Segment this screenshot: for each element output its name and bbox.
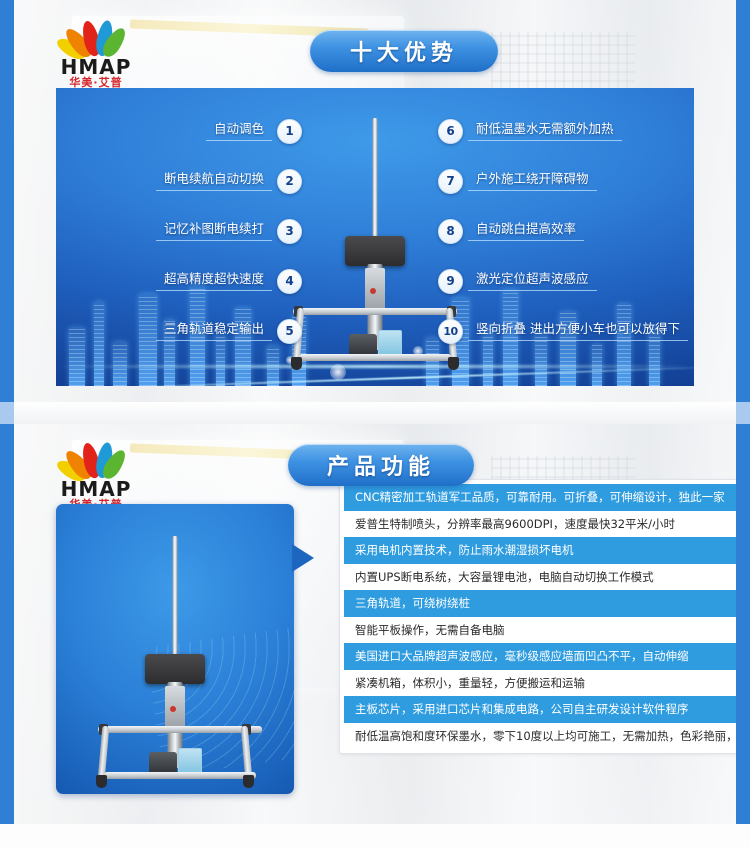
section2-title-text: 产品功能 <box>327 449 435 481</box>
advantage-label: 记忆补图断电续打 <box>156 221 272 241</box>
right-edge-strip-gap <box>736 402 750 424</box>
advantage-item[interactable]: 超高精度超快速度 4 <box>64 256 302 306</box>
logo-wordmark: HMAP <box>48 57 144 77</box>
machine-mast <box>373 118 378 242</box>
product-brochure-page: HMAP 华美·艾普 十大优势 <box>0 0 750 847</box>
product-machine-photo <box>90 536 260 780</box>
machine-carriage <box>165 686 185 728</box>
advantage-number-badge: 2 <box>277 169 302 194</box>
feature-row[interactable]: CNC精密加工轨道军工品质，可靠耐用。可折叠，可伸缩设计，独此一家 <box>344 484 736 511</box>
advantage-number-badge: 3 <box>277 219 302 244</box>
advantage-number-badge: 9 <box>438 269 463 294</box>
machine-frame-bottom-rail <box>104 772 256 779</box>
advantage-item[interactable]: 三角轨道稳定输出 5 <box>64 306 302 356</box>
machine-frame-top-rail <box>98 726 262 733</box>
advantage-number-badge: 6 <box>438 119 463 144</box>
machine-print-head-unit <box>345 236 405 266</box>
feature-row[interactable]: 紧凑机箱，体积小，重量轻，方便搬运和运输 <box>344 670 736 697</box>
machine-mast <box>173 536 178 660</box>
advantage-number-badge: 8 <box>438 219 463 244</box>
advantage-item[interactable]: 6 耐低温墨水无需额外加热 <box>438 106 686 156</box>
feature-row[interactable]: 智能平板操作，无需自备电脑 <box>344 617 736 644</box>
advantage-item[interactable]: 自动调色 1 <box>64 106 302 156</box>
advantage-label: 激光定位超声波感应 <box>468 271 597 291</box>
advantage-item[interactable]: 断电续航自动切换 2 <box>64 156 302 206</box>
feature-row[interactable]: 主板芯片，采用进口芯片和集成电路，公司自主研发设计软件程序 <box>344 696 736 723</box>
section2-title-banner: 产品功能 <box>288 444 474 486</box>
advantage-label: 超高精度超快速度 <box>156 271 272 291</box>
section-advantages: HMAP 华美·艾普 十大优势 <box>14 0 736 402</box>
advantage-number-badge: 7 <box>438 169 463 194</box>
feature-row[interactable]: 耐低温高饱和度环保墨水，零下10度以上均可施工，无需加热，色彩艳丽，无毒环保 <box>344 723 736 750</box>
section1-title-banner: 十大优势 <box>310 30 498 72</box>
machine-motor <box>349 334 377 356</box>
feature-row[interactable]: 采用电机内置技术，防止雨水潮湿损坏电机 <box>344 537 736 564</box>
section1-title-text: 十大优势 <box>350 35 458 67</box>
machine-wheel-left <box>291 357 302 370</box>
advantage-label: 竖向折叠 进出方便小车也可以放得下 <box>468 321 688 341</box>
left-edge-strip <box>0 0 14 402</box>
left-edge-strip-gap <box>0 402 14 424</box>
advantages-right-column: 6 耐低温墨水无需额外加热 7 户外施工绕开障碍物 8 自动跳白提高效率 9 激… <box>438 106 686 356</box>
right-edge-strip-lower <box>736 424 750 824</box>
advantage-item[interactable]: 记忆补图断电续打 3 <box>64 206 302 256</box>
advantages-left-column: 自动调色 1 断电续航自动切换 2 记忆补图断电续打 3 超高精度超快速度 4 … <box>64 106 302 356</box>
machine-wheel-left <box>96 775 107 788</box>
product-photo-card <box>56 504 294 794</box>
feature-row[interactable]: 美国进口大品牌超声波感应，毫秒级感应墙面凹凸不平，自动伸缩 <box>344 643 736 670</box>
brand-logo-2: HMAP 华美·艾普 <box>48 438 144 504</box>
advantage-item[interactable]: 9 激光定位超声波感应 <box>438 256 686 306</box>
feature-row[interactable]: 爱普生特制喷头，分辨率最高9600DPI，速度最快32平米/小时 <box>344 511 736 538</box>
machine-frame-top-rail <box>293 308 457 315</box>
feature-row[interactable]: 内置UPS断电系统，大容量锂电池，电脑自动切换工作模式 <box>344 564 736 591</box>
advantage-number-badge: 1 <box>277 119 302 144</box>
speech-bubble-tail <box>292 544 314 572</box>
section-divider-gap <box>14 402 736 424</box>
machine-frame-bottom-rail <box>299 354 451 361</box>
advantage-label: 三角轨道稳定输出 <box>156 321 272 341</box>
advantage-label: 户外施工绕开障碍物 <box>468 171 597 191</box>
right-edge-strip <box>736 0 750 402</box>
advantages-panel: 自动调色 1 断电续航自动切换 2 记忆补图断电续打 3 超高精度超快速度 4 … <box>56 88 694 386</box>
advantage-label: 断电续航自动切换 <box>156 171 272 191</box>
advantage-number-badge: 10 <box>438 319 463 344</box>
advantage-label: 耐低温墨水无需额外加热 <box>468 121 622 141</box>
machine-print-head-unit <box>145 654 205 684</box>
feature-list-panel: CNC精密加工轨道军工品质，可靠耐用。可折叠，可伸缩设计，独此一家 爱普生特制喷… <box>339 479 736 754</box>
machine-carriage <box>365 268 385 310</box>
machine-wheel-right <box>448 357 459 370</box>
brand-logo: HMAP 华美·艾普 <box>48 16 144 82</box>
advantage-label: 自动跳白提高效率 <box>468 221 584 241</box>
left-edge-strip-lower <box>0 424 14 824</box>
machine-wheel-right <box>243 775 254 788</box>
advantage-number-badge: 5 <box>277 319 302 344</box>
machine-motor <box>149 752 177 774</box>
feature-row[interactable]: 三角轨道，可绕树绕桩 <box>344 590 736 617</box>
advantage-item[interactable]: 7 户外施工绕开障碍物 <box>438 156 686 206</box>
advantage-label: 自动调色 <box>206 121 272 141</box>
advantage-item[interactable]: 10 竖向折叠 进出方便小车也可以放得下 <box>438 306 686 356</box>
logo-fan-icon <box>48 16 144 56</box>
advantage-item[interactable]: 8 自动跳白提高效率 <box>438 206 686 256</box>
advantage-number-badge: 4 <box>277 269 302 294</box>
logo-fan-icon-2 <box>48 438 144 478</box>
logo-wordmark-2: HMAP <box>48 479 144 499</box>
